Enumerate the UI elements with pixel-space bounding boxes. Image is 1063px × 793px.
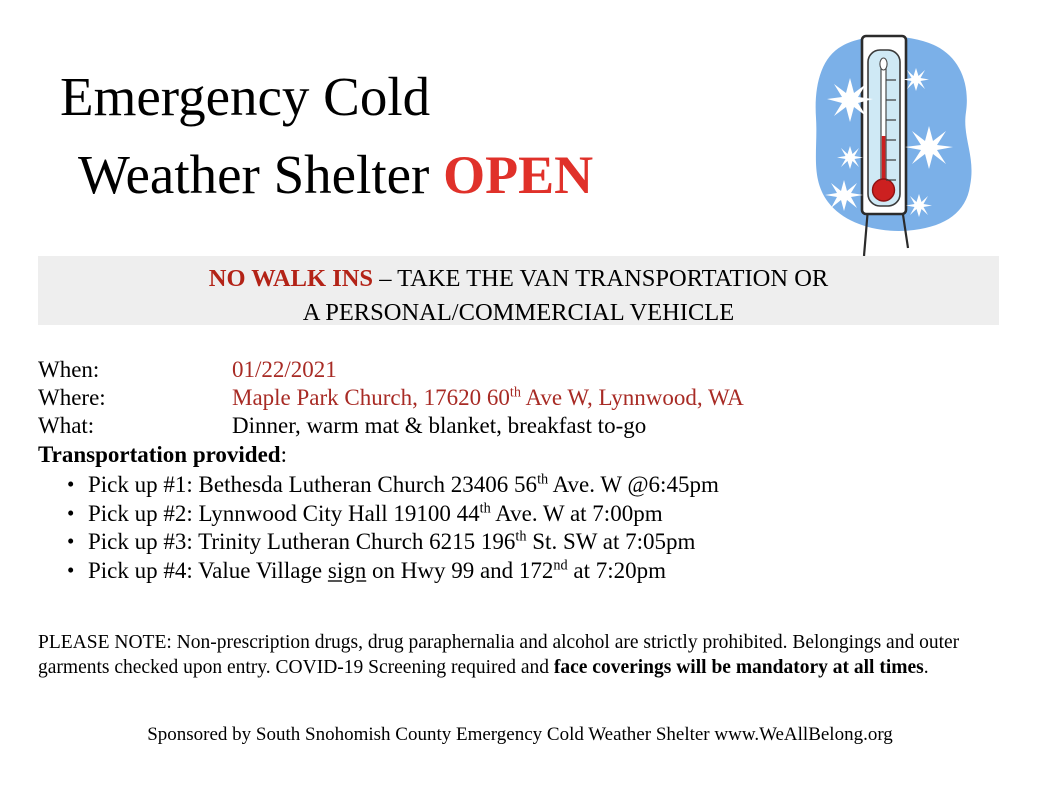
what-label: What: (38, 412, 232, 440)
pickup-3-ordinal: th (515, 528, 526, 544)
please-note-paragraph: PLEASE NOTE: Non-prescription drugs, dru… (38, 630, 984, 681)
where-label: Where: (38, 384, 232, 412)
transportation-heading: Transportation provided: (38, 440, 998, 469)
pickup-4-pre: Pick up #4: Value Village (88, 558, 328, 583)
pickup-1-pre: Pick up #1: Bethesda Lutheran Church 234… (88, 472, 537, 497)
pickup-list: Pick up #1: Bethesda Lutheran Church 234… (38, 471, 998, 585)
sponsor-footer: Sponsored by South Snohomish County Emer… (0, 723, 1040, 747)
what-value: Dinner, warm mat & blanket, breakfast to… (232, 412, 646, 440)
detail-row-where: Where: Maple Park Church, 17620 60th Ave… (38, 384, 998, 412)
details-section: When: 01/22/2021 Where: Maple Park Churc… (38, 356, 998, 585)
when-value: 01/22/2021 (232, 356, 337, 384)
pickup-2-post: Ave. W at 7:00pm (491, 501, 663, 526)
title-line-1: Emergency Cold (0, 58, 790, 136)
note-bold-part: face coverings will be mandatory at all … (554, 657, 924, 678)
transportation-heading-colon: : (281, 442, 287, 467)
transportation-heading-text: Transportation provided (38, 442, 281, 467)
pickup-1-post: Ave. W @6:45pm (548, 472, 719, 497)
pickup-4-underlined-word: sign (328, 558, 366, 583)
pickup-4-mid: on Hwy 99 and 172 (366, 558, 553, 583)
pickup-3-post: St. SW at 7:05pm (527, 529, 696, 554)
thermometer-snowflakes-icon (806, 18, 991, 258)
page-title: Emergency Cold Weather Shelter OPEN (0, 58, 790, 214)
where-value-post: Ave W, Lynnwood, WA (521, 385, 744, 410)
where-ordinal-suffix: th (510, 384, 521, 400)
note-part-2: . (924, 657, 929, 678)
pickup-4-ordinal: nd (553, 557, 567, 573)
pickup-1-ordinal: th (537, 471, 548, 487)
title-line-2: Weather Shelter OPEN (0, 136, 790, 214)
status-open-text: OPEN (443, 145, 593, 205)
pickup-2-ordinal: th (480, 500, 491, 516)
title-line-2-text: Weather Shelter (78, 144, 443, 205)
pickup-4-post: at 7:20pm (568, 558, 666, 583)
list-item: Pick up #1: Bethesda Lutheran Church 234… (38, 471, 998, 500)
banner-line-1: NO WALK INS – TAKE THE VAN TRANSPORTATIO… (38, 262, 999, 296)
no-walk-ins-banner: NO WALK INS – TAKE THE VAN TRANSPORTATIO… (38, 256, 999, 325)
list-item: Pick up #3: Trinity Lutheran Church 6215… (38, 528, 998, 557)
banner-line-2: A PERSONAL/COMMERCIAL VEHICLE (38, 296, 999, 330)
where-value-pre: Maple Park Church, 17620 60 (232, 385, 510, 410)
banner-line-1-rest: – TAKE THE VAN TRANSPORTATION OR (373, 265, 828, 292)
pickup-2-pre: Pick up #2: Lynnwood City Hall 19100 44 (88, 501, 480, 526)
detail-row-when: When: 01/22/2021 (38, 356, 998, 384)
where-value: Maple Park Church, 17620 60th Ave W, Lyn… (232, 384, 744, 412)
list-item: Pick up #2: Lynnwood City Hall 19100 44t… (38, 500, 998, 529)
when-label: When: (38, 356, 232, 384)
pickup-3-pre: Pick up #3: Trinity Lutheran Church 6215… (88, 529, 515, 554)
detail-row-what: What: Dinner, warm mat & blanket, breakf… (38, 412, 998, 440)
banner-emphasis: NO WALK INS (209, 265, 373, 292)
list-item: Pick up #4: Value Village sign on Hwy 99… (38, 557, 998, 586)
